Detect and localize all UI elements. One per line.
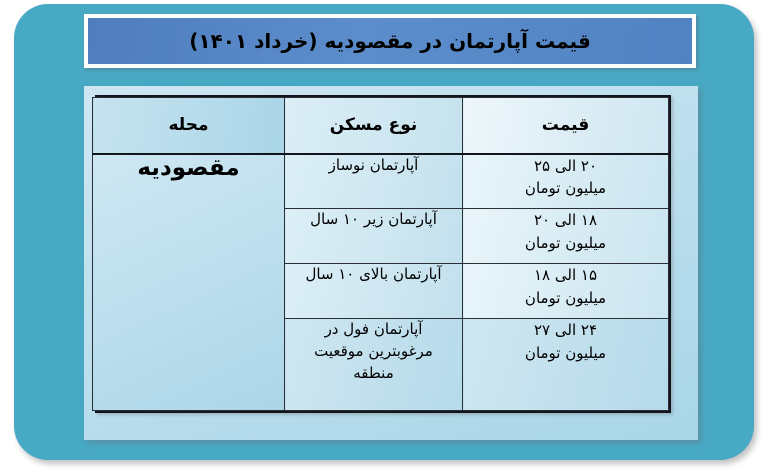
price-range: ۱۸ الی ۲۰: [463, 209, 668, 232]
table-row: ۲۰ الی ۲۵ میلیون تومان آپارتمان نوساز مق…: [93, 154, 669, 209]
title-banner: قیمت آپارتمان در مقصودیه (خرداد ۱۴۰۱): [88, 18, 692, 64]
table-header-row: قیمت نوع مسکن محله: [93, 98, 669, 154]
price-range: ۲۴ الی ۲۷: [463, 319, 668, 342]
column-header-neighborhood: محله: [93, 98, 285, 154]
cell-price: ۲۰ الی ۲۵ میلیون تومان: [463, 154, 669, 209]
housing-type-line-3: منطقه: [285, 363, 462, 385]
cell-price: ۱۸ الی ۲۰ میلیون تومان: [463, 209, 669, 264]
price-unit: میلیون تومان: [463, 177, 668, 200]
cell-housing-type: آپارتمان نوساز: [285, 154, 463, 209]
cell-price: ۱۵ الی ۱۸ میلیون تومان: [463, 264, 669, 319]
housing-type-line-1: آپارتمان فول در: [285, 319, 462, 341]
slide-canvas: قیمت آپارتمان در مقصودیه (خرداد ۱۴۰۱) قی…: [0, 0, 780, 470]
price-unit: میلیون تومان: [463, 287, 668, 310]
cell-housing-type: آپارتمان بالای ۱۰ سال: [285, 264, 463, 319]
price-unit: میلیون تومان: [463, 342, 668, 365]
cell-neighborhood: مقصودیه: [93, 154, 285, 411]
price-table: قیمت نوع مسکن محله ۲۰ الی ۲۵ میلیون توما…: [92, 97, 669, 411]
title-plate: قیمت آپارتمان در مقصودیه (خرداد ۱۴۰۱): [84, 14, 696, 68]
column-header-housing-type: نوع مسکن: [285, 98, 463, 154]
column-header-price: قیمت: [463, 98, 669, 154]
cell-price: ۲۴ الی ۲۷ میلیون تومان: [463, 319, 669, 411]
cell-housing-type: آپارتمان زیر ۱۰ سال: [285, 209, 463, 264]
price-range: ۱۵ الی ۱۸: [463, 264, 668, 287]
price-unit: میلیون تومان: [463, 232, 668, 255]
cell-housing-type: آپارتمان فول در مرغوبترین موقعیت منطقه: [285, 319, 463, 411]
page-title: قیمت آپارتمان در مقصودیه (خرداد ۱۴۰۱): [189, 29, 591, 53]
housing-type-line-2: مرغوبترین موقعیت: [285, 341, 462, 363]
price-table-container: قیمت نوع مسکن محله ۲۰ الی ۲۵ میلیون توما…: [95, 95, 671, 413]
price-range: ۲۰ الی ۲۵: [463, 155, 668, 178]
